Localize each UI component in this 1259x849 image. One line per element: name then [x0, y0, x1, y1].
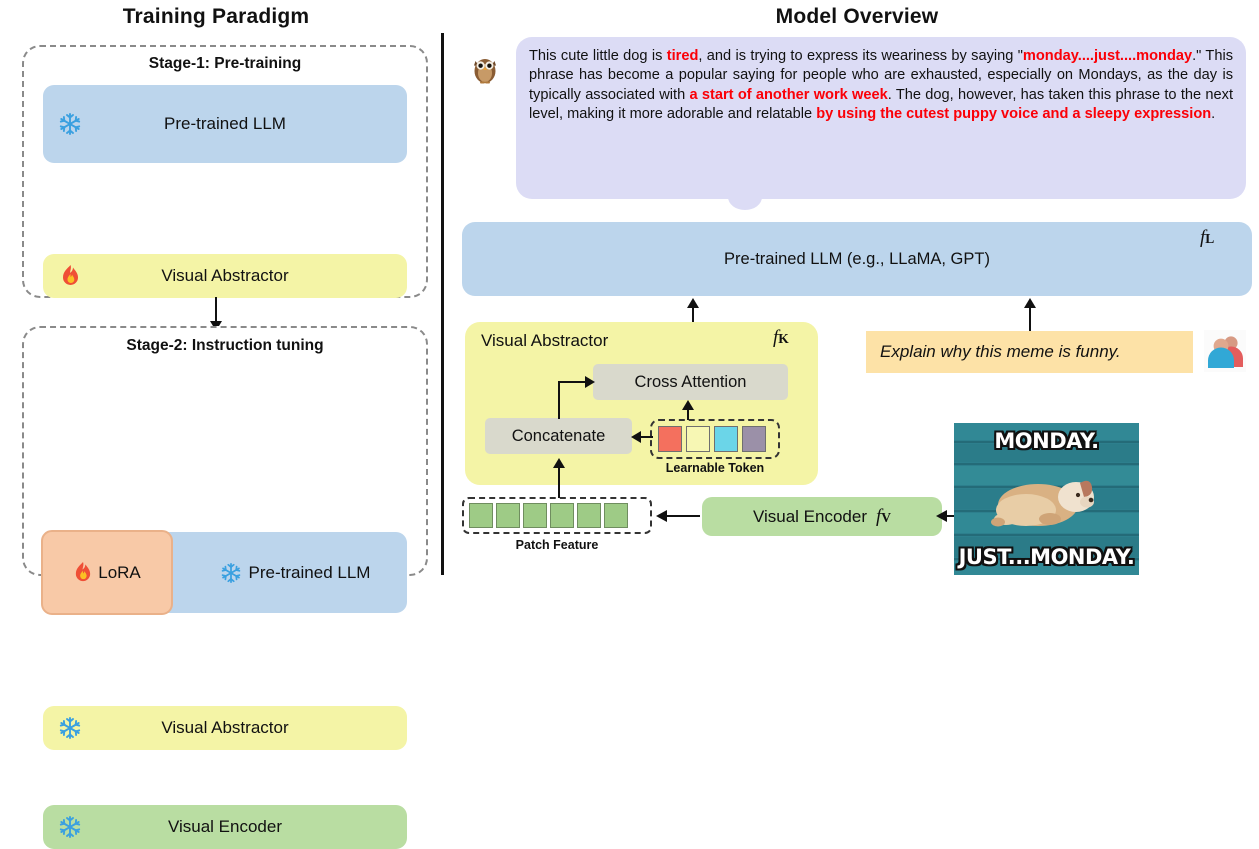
snowflake-icon [57, 814, 83, 840]
f-k-subscript: K [778, 331, 789, 346]
concatenate-label: Concatenate [512, 427, 606, 446]
instruction-box[interactable]: Explain why this meme is funny. [866, 331, 1193, 373]
concat-to-cross-arrow-head [585, 376, 595, 388]
panel-divider [441, 33, 444, 575]
stage-2-row-encoder-label: Visual Encoder [43, 817, 407, 837]
patch-feature-cell [496, 503, 520, 528]
learnable-token-0 [658, 426, 682, 452]
meme-bottom-text: JUST...MONDAY. [954, 545, 1139, 569]
patch-feature-strip[interactable] [462, 497, 652, 534]
instruction-to-llm-arrow-line [1029, 306, 1031, 334]
patch-feature-cell [550, 503, 574, 528]
concat-to-cross-arrow-horizontal [558, 381, 586, 383]
meme-to-encoder-arrow-head [936, 510, 947, 522]
response-plain: , and is trying to express its weariness… [698, 48, 1023, 64]
patch-feature-cell [577, 503, 601, 528]
stage-transition-arrow-line [215, 297, 217, 323]
stage-1-row-llm-label: Pre-trained LLM [43, 114, 407, 134]
learnable-token-caption: Learnable Token [648, 461, 782, 475]
visual-encoder-label: Visual Encoder [753, 507, 867, 527]
response-highlight: monday....just....monday [1023, 48, 1192, 64]
token-to-concat-arrow-line [639, 436, 653, 438]
stage-1-row-abstractor[interactable]: Visual Abstractor [43, 254, 407, 298]
right-panel-title: Model Overview [455, 5, 1259, 29]
patch-feature-cell [469, 503, 493, 528]
meme-image[interactable]: MONDAY. JUST...MONDAY. [954, 423, 1139, 575]
f-v-subscript: V [881, 510, 891, 525]
response-plain: This cute little dog is [529, 48, 667, 64]
stage-1-row-abstractor-label: Visual Abstractor [43, 266, 407, 286]
stage-2-row-abstractor[interactable]: Visual Abstractor [43, 706, 407, 750]
stage-2-row-llm-label: Pre-trained LLM [249, 563, 371, 583]
stage-2-row-encoder[interactable]: Visual Encoder [43, 805, 407, 849]
assistant-response-bubble: This cute little dog is tired, and is tr… [516, 37, 1246, 199]
patch-feature-caption: Patch Feature [462, 538, 652, 552]
assistant-response-text: This cute little dog is tired, and is tr… [529, 48, 1233, 122]
patch-to-concat-arrow-head [553, 458, 565, 468]
f-l-subscript: L [1205, 231, 1214, 246]
users-icon [1204, 330, 1246, 372]
snowflake-icon [220, 562, 242, 584]
lora-chip[interactable]: LoRA [41, 530, 173, 615]
pretrained-llm-box[interactable]: Pre-trained LLM (e.g., LLaMA, GPT) [462, 222, 1252, 296]
instruction-text: Explain why this meme is funny. [880, 342, 1121, 362]
snowflake-icon [57, 111, 83, 137]
encoder-to-patch-arrow-head [656, 510, 667, 522]
concat-to-cross-arrow-vertical [558, 381, 560, 419]
stage-2-row-llm[interactable]: LoRA Pre-trained LLM [43, 532, 407, 613]
learnable-token-3 [742, 426, 766, 452]
response-highlight: a start of another work week [690, 87, 888, 103]
patch-feature-cell [604, 503, 628, 528]
f-v-label: fV [876, 506, 891, 528]
encoder-to-patch-arrow-line [666, 515, 700, 517]
lora-label: LoRA [98, 563, 141, 583]
stage-2-llm-group: Pre-trained LLM [183, 532, 407, 613]
stage-2-row-abstractor-label: Visual Abstractor [43, 718, 407, 738]
stage-2-title: Stage-2: Instruction tuning [22, 337, 428, 355]
visual-abstractor-title: Visual Abstractor [481, 331, 608, 351]
f-k-label: fK [773, 327, 789, 349]
f-l-label: fL [1200, 227, 1214, 249]
bubble-tail [728, 197, 762, 210]
learnable-token-strip[interactable] [650, 419, 780, 459]
cross-attention-box[interactable]: Cross Attention [593, 364, 788, 400]
left-panel-title: Training Paradigm [0, 5, 432, 29]
response-highlight: tired [667, 48, 699, 64]
fire-icon [57, 263, 83, 289]
stage-1-row-llm[interactable]: Pre-trained LLM [43, 85, 407, 163]
snowflake-icon [57, 715, 83, 741]
stage-1-title: Stage-1: Pre-training [22, 55, 428, 73]
visual-encoder-box[interactable]: Visual Encoder fV [702, 497, 942, 536]
patch-to-concat-arrow-line [558, 466, 560, 498]
instruction-to-llm-arrow-head [1024, 298, 1036, 308]
pretrained-llm-label: Pre-trained LLM (e.g., LLaMA, GPT) [724, 250, 990, 269]
response-highlight: by using the cutest puppy voice and a sl… [816, 106, 1211, 122]
meme-top-text: MONDAY. [954, 429, 1139, 453]
fire-icon [73, 561, 93, 584]
learnable-token-1 [686, 426, 710, 452]
response-plain: . [1211, 106, 1215, 122]
concatenate-box[interactable]: Concatenate [485, 418, 632, 454]
abstractor-to-llm-arrow-head [687, 298, 699, 308]
learnable-token-2 [714, 426, 738, 452]
owl-icon [468, 52, 502, 86]
token-to-concat-arrow-head [631, 431, 641, 443]
cross-attention-label: Cross Attention [635, 373, 747, 392]
token-to-cross-arrow-head [682, 400, 694, 410]
patch-feature-cell [523, 503, 547, 528]
